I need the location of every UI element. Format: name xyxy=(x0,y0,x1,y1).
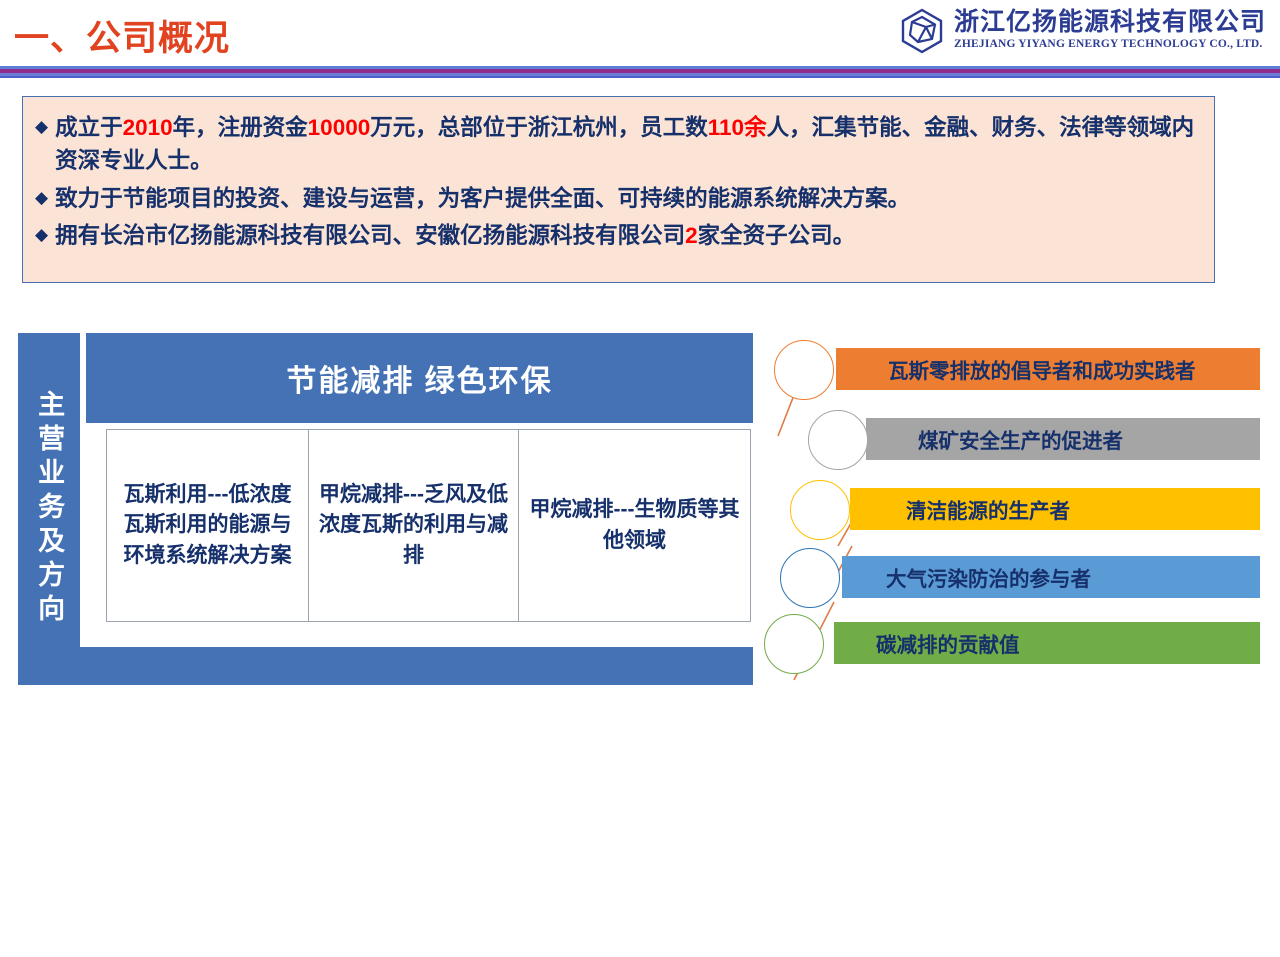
overview-bullet-text: 成立于2010年，注册资金10000万元，总部位于浙江杭州，员工数110余人，汇… xyxy=(55,111,1204,178)
side-label-text: 主营业务及方向 xyxy=(35,390,63,628)
highlight-number: 10000 xyxy=(308,115,371,140)
bullet-diamond-icon: ◆ xyxy=(35,219,48,251)
overview-bullet-item: ◆成立于2010年，注册资金10000万元，总部位于浙江杭州，员工数110余人，… xyxy=(35,111,1204,178)
value-tag-label: 煤矿安全生产的促进者 xyxy=(918,424,1123,454)
business-cell-2: 甲烷减排---乏风及低浓度瓦斯的利用与减排 xyxy=(308,429,519,622)
highlight-number: 2 xyxy=(685,223,698,248)
tag-circle-icon xyxy=(790,480,850,540)
table-row: 瓦斯利用---低浓度瓦斯利用的能源与环境系统解决方案 甲烷减排---乏风及低浓度… xyxy=(106,429,753,622)
overview-bullet-list: ◆成立于2010年，注册资金10000万元，总部位于浙江杭州，员工数110余人，… xyxy=(35,111,1204,252)
logo-company-name-cn: 浙江亿扬能源科技有限公司 xyxy=(954,10,1266,35)
business-cell-3-text: 甲烷减排---生物质等其他领域 xyxy=(529,495,740,556)
header-divider xyxy=(0,66,1280,78)
value-tag-label: 清洁能源的生产者 xyxy=(906,494,1070,524)
bullet-diamond-icon: ◆ xyxy=(35,182,48,214)
tag-circle-icon xyxy=(774,340,834,400)
value-tag-item[interactable]: 清洁能源的生产者 xyxy=(850,488,1260,530)
plain-text: 致力于节能项目的投资、建设与运营，为客户提供全面、可持续的能源系统解决方案。 xyxy=(55,186,910,211)
value-tag-item[interactable]: 瓦斯零排放的倡导者和成功实践者 xyxy=(836,348,1260,390)
business-cell-1-text: 瓦斯利用---低浓度瓦斯利用的能源与环境系统解决方案 xyxy=(117,480,298,571)
page-title: 一、公司概况 xyxy=(14,10,230,61)
business-banner-text: 节能减排 绿色环保 xyxy=(286,356,552,400)
plain-text: 成立于 xyxy=(55,115,123,140)
value-tag-bar: 清洁能源的生产者 xyxy=(850,488,1260,530)
plain-text: 年，注册资金 xyxy=(173,115,308,140)
value-tag-bar: 大气污染防治的参与者 xyxy=(842,556,1260,598)
value-tag-bar: 煤矿安全生产的促进者 xyxy=(866,418,1260,460)
tag-circle-icon xyxy=(780,548,840,608)
business-cell-2-text: 甲烷减排---乏风及低浓度瓦斯的利用与减排 xyxy=(319,480,508,571)
business-cell-1: 瓦斯利用---低浓度瓦斯利用的能源与环境系统解决方案 xyxy=(106,429,309,622)
business-table: 瓦斯利用---低浓度瓦斯利用的能源与环境系统解决方案 甲烷减排---乏风及低浓度… xyxy=(106,429,753,957)
value-tag-label: 瓦斯零排放的倡导者和成功实践者 xyxy=(888,354,1196,384)
value-tag-label: 大气污染防治的参与者 xyxy=(886,562,1091,592)
hexagon-cube-logo-icon xyxy=(900,8,944,54)
business-cell-3: 甲烷减排---生物质等其他领域 xyxy=(518,429,751,622)
highlight-number: 2010 xyxy=(123,115,173,140)
plain-text: 家全资子公司。 xyxy=(698,223,856,248)
bullet-diamond-icon: ◆ xyxy=(35,111,48,143)
value-tag-item[interactable]: 碳减排的贡献值 xyxy=(834,622,1260,664)
value-tag-item[interactable]: 大气污染防治的参与者 xyxy=(842,556,1260,598)
value-tag-bar: 碳减排的贡献值 xyxy=(834,622,1260,664)
tag-circle-icon xyxy=(764,614,824,674)
plain-text: 万元，总部位于浙江杭州，员工数 xyxy=(370,115,708,140)
overview-bullet-text: 致力于节能项目的投资、建设与运营，为客户提供全面、可持续的能源系统解决方案。 xyxy=(55,182,1204,215)
business-banner: 节能减排 绿色环保 xyxy=(86,333,753,423)
overview-bullet-item: ◆致力于节能项目的投资、建设与运营，为客户提供全面、可持续的能源系统解决方案。 xyxy=(35,182,1204,215)
main-business-side-label: 主营业务及方向 xyxy=(18,333,80,685)
main-business-panel: 主营业务及方向 节能减排 绿色环保 瓦斯利用---低浓度瓦斯利用的能源与环境系统… xyxy=(18,333,753,685)
value-tag-label: 碳减排的贡献值 xyxy=(876,628,1020,658)
overview-bullet-text: 拥有长治市亿扬能源科技有限公司、安徽亿扬能源科技有限公司2家全资子公司。 xyxy=(55,219,1204,252)
overview-bullet-item: ◆拥有长治市亿扬能源科技有限公司、安徽亿扬能源科技有限公司2家全资子公司。 xyxy=(35,219,1204,252)
value-tag-stack: 瓦斯零排放的倡导者和成功实践者煤矿安全生产的促进者清洁能源的生产者大气污染防治的… xyxy=(760,340,1260,685)
company-overview-box: ◆成立于2010年，注册资金10000万元，总部位于浙江杭州，员工数110余人，… xyxy=(22,96,1215,283)
tag-circle-icon xyxy=(808,410,868,470)
plain-text: 拥有长治市亿扬能源科技有限公司、安徽亿扬能源科技有限公司 xyxy=(55,223,685,248)
value-tag-item[interactable]: 煤矿安全生产的促进者 xyxy=(866,418,1260,460)
slide-canvas: 一、公司概况 浙江亿扬能源科技有限公司 ZHEJIANG YIYANG ENER… xyxy=(0,0,1280,720)
value-tag-bar: 瓦斯零排放的倡导者和成功实践者 xyxy=(836,348,1260,390)
highlight-number: 110余 xyxy=(708,115,767,140)
business-footer-bar xyxy=(80,647,753,685)
logo-company-name-en: ZHEJIANG YIYANG ENERGY TECHNOLOGY CO., L… xyxy=(954,38,1266,52)
company-logo: 浙江亿扬能源科技有限公司 ZHEJIANG YIYANG ENERGY TECH… xyxy=(900,8,1266,54)
